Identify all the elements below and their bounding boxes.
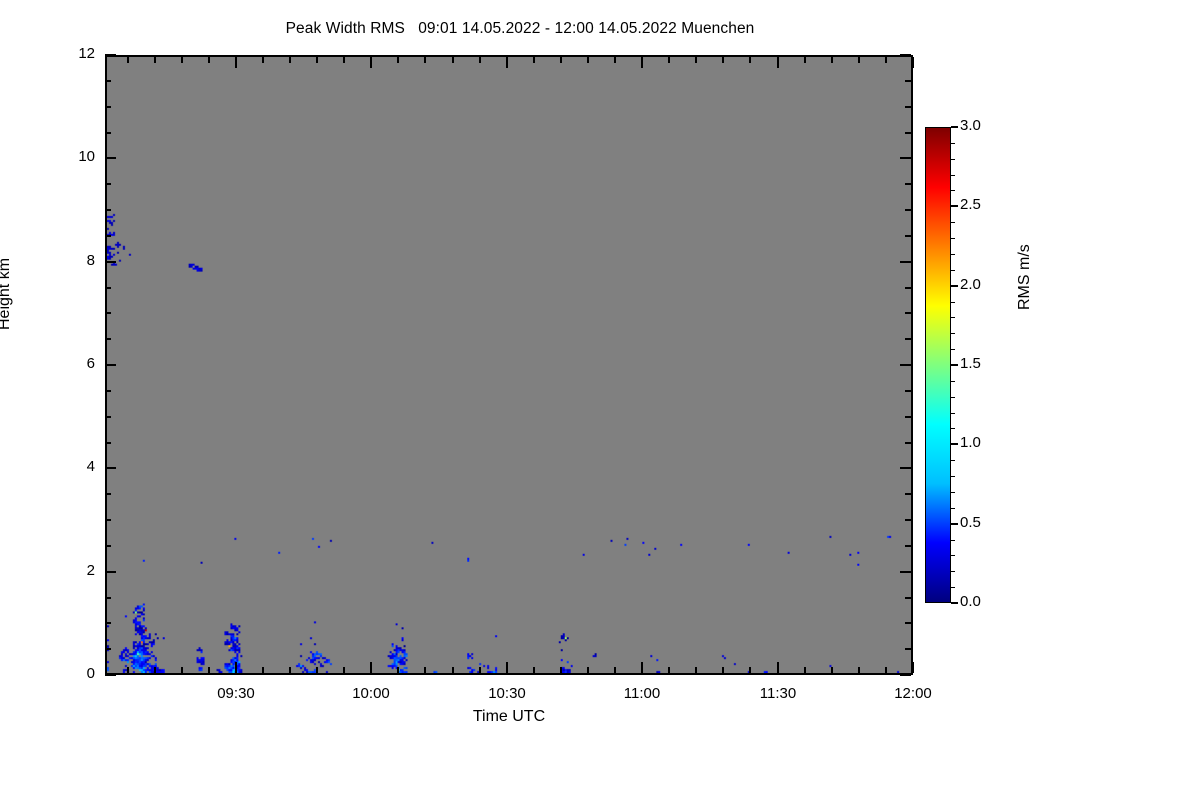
- y-tick-label: 0: [40, 665, 95, 682]
- y-tick-minor-right: [905, 132, 911, 134]
- x-tick-minor: [479, 667, 481, 673]
- x-tick-minor: [208, 667, 210, 673]
- x-tick-minor-top: [262, 57, 264, 63]
- y-tick-minor-right: [905, 442, 911, 444]
- x-tick-minor-top: [181, 57, 183, 63]
- x-tick-minor-top: [614, 57, 616, 63]
- colorbar-tick-minor: [951, 476, 955, 477]
- y-tick-minor-right: [905, 338, 911, 340]
- y-tick-label: 4: [40, 458, 95, 475]
- colorbar-tick-minor: [951, 175, 955, 176]
- x-tick-major: [235, 662, 237, 673]
- page-title: Peak Width RMS 09:01 14.05.2022 - 12:00 …: [0, 20, 1040, 38]
- x-tick-label: 09:30: [191, 685, 281, 702]
- colorbar-tick-minor: [951, 540, 955, 541]
- y-tick-minor: [105, 312, 111, 314]
- x-tick-minor: [587, 667, 589, 673]
- x-tick-minor-top: [343, 57, 345, 63]
- plot-area: [105, 55, 913, 675]
- colorbar-tick-minor: [951, 159, 955, 160]
- x-tick-minor-top: [533, 57, 535, 63]
- x-tick-minor: [885, 667, 887, 673]
- x-tick-minor: [452, 667, 454, 673]
- y-tick-minor: [105, 106, 111, 108]
- x-tick-major-top: [370, 57, 372, 68]
- colorbar-tick-label: 1.5: [960, 355, 981, 372]
- y-tick-major: [105, 261, 116, 263]
- colorbar-tick-minor: [951, 254, 955, 255]
- x-tick-major-top: [641, 57, 643, 68]
- colorbar-tick-minor: [951, 508, 955, 509]
- y-tick-minor: [105, 442, 111, 444]
- colorbar-tick-label: 0.5: [960, 514, 981, 531]
- x-tick-major: [370, 662, 372, 673]
- colorbar: [925, 127, 951, 603]
- y-tick-label: 2: [40, 562, 95, 579]
- x-tick-minor: [749, 667, 751, 673]
- y-tick-minor: [105, 338, 111, 340]
- x-tick-label: 10:30: [462, 685, 552, 702]
- y-tick-minor-right: [905, 416, 911, 418]
- colorbar-gradient: [925, 127, 951, 603]
- colorbar-tick-major: [951, 126, 958, 128]
- y-tick-minor-right: [905, 519, 911, 521]
- x-tick-minor: [289, 667, 291, 673]
- x-tick-minor: [127, 667, 129, 673]
- colorbar-tick-major: [951, 602, 958, 604]
- y-tick-major-right: [900, 157, 911, 159]
- x-tick-major-top: [777, 57, 779, 68]
- y-tick-minor: [105, 80, 111, 82]
- x-tick-major-top: [235, 57, 237, 68]
- x-tick-minor-top: [587, 57, 589, 63]
- x-tick-minor-top: [749, 57, 751, 63]
- x-tick-minor: [560, 667, 562, 673]
- x-tick-major: [506, 662, 508, 673]
- y-tick-major: [105, 674, 116, 676]
- x-tick-minor: [831, 667, 833, 673]
- x-tick-minor: [722, 667, 724, 673]
- x-tick-minor-top: [208, 57, 210, 63]
- x-tick-minor: [181, 667, 183, 673]
- y-tick-major-right: [900, 364, 911, 366]
- x-tick-minor: [668, 667, 670, 673]
- colorbar-tick-minor: [951, 381, 955, 382]
- x-tick-minor-top: [560, 57, 562, 63]
- y-tick-minor-right: [905, 493, 911, 495]
- colorbar-tick-minor: [951, 143, 955, 144]
- x-tick-minor: [533, 667, 535, 673]
- colorbar-tick-minor: [951, 270, 955, 271]
- x-tick-minor: [614, 667, 616, 673]
- y-tick-minor: [105, 416, 111, 418]
- x-tick-minor: [316, 667, 318, 673]
- colorbar-tick-minor: [951, 302, 955, 303]
- colorbar-tick-minor: [951, 587, 955, 588]
- colorbar-tick-minor: [951, 238, 955, 239]
- y-tick-minor-right: [905, 648, 911, 650]
- y-tick-major: [105, 54, 116, 56]
- y-tick-major-right: [900, 54, 911, 56]
- colorbar-tick-minor: [951, 460, 955, 461]
- y-tick-minor: [105, 648, 111, 650]
- x-tick-minor-top: [722, 57, 724, 63]
- colorbar-tick-label: 2.5: [960, 196, 981, 213]
- x-tick-major-top: [506, 57, 508, 68]
- y-tick-minor: [105, 493, 111, 495]
- y-tick-minor: [105, 183, 111, 185]
- y-tick-minor-right: [905, 183, 911, 185]
- y-tick-major-right: [900, 261, 911, 263]
- x-tick-minor-top: [127, 57, 129, 63]
- colorbar-tick-major: [951, 285, 958, 287]
- y-tick-major-right: [900, 674, 911, 676]
- x-tick-minor-top: [695, 57, 697, 63]
- colorbar-tick-minor: [951, 317, 955, 318]
- x-tick-minor-top: [831, 57, 833, 63]
- colorbar-tick-label: 1.0: [960, 434, 981, 451]
- y-tick-minor: [105, 287, 111, 289]
- y-tick-major: [105, 364, 116, 366]
- x-tick-minor-top: [424, 57, 426, 63]
- x-tick-minor: [424, 667, 426, 673]
- colorbar-tick-minor: [951, 492, 955, 493]
- colorbar-tick-minor: [951, 571, 955, 572]
- y-tick-minor: [105, 209, 111, 211]
- y-tick-minor: [105, 235, 111, 237]
- x-tick-label: 10:00: [326, 685, 416, 702]
- x-tick-minor-top: [858, 57, 860, 63]
- colorbar-tick-label: 2.0: [960, 276, 981, 293]
- y-tick-minor-right: [905, 287, 911, 289]
- x-tick-minor: [858, 667, 860, 673]
- y-tick-minor-right: [905, 235, 911, 237]
- y-tick-minor-right: [905, 209, 911, 211]
- x-tick-minor-top: [804, 57, 806, 63]
- x-tick-minor-top: [289, 57, 291, 63]
- y-tick-label: 10: [40, 148, 95, 165]
- x-tick-major: [777, 662, 779, 673]
- y-tick-minor-right: [905, 390, 911, 392]
- y-tick-minor-right: [905, 622, 911, 624]
- y-tick-minor: [105, 390, 111, 392]
- heatmap-canvas: [107, 57, 911, 673]
- y-tick-minor-right: [905, 597, 911, 599]
- colorbar-tick-minor: [951, 555, 955, 556]
- x-tick-minor-top: [397, 57, 399, 63]
- x-tick-minor: [695, 667, 697, 673]
- x-tick-major-top: [912, 57, 914, 68]
- x-tick-minor: [343, 667, 345, 673]
- y-tick-minor-right: [905, 312, 911, 314]
- y-tick-major-right: [900, 571, 911, 573]
- y-tick-major-right: [900, 467, 911, 469]
- colorbar-tick-major: [951, 205, 958, 207]
- y-tick-major: [105, 157, 116, 159]
- x-tick-label: 11:00: [597, 685, 687, 702]
- colorbar-tick-minor: [951, 413, 955, 414]
- y-tick-minor: [105, 597, 111, 599]
- x-tick-label: 11:30: [733, 685, 823, 702]
- colorbar-tick-minor: [951, 397, 955, 398]
- x-tick-minor: [804, 667, 806, 673]
- x-tick-minor-top: [452, 57, 454, 63]
- y-tick-label: 6: [40, 355, 95, 372]
- colorbar-title: RMS m/s: [1016, 244, 1034, 310]
- x-tick-label: 12:00: [868, 685, 958, 702]
- y-tick-minor: [105, 545, 111, 547]
- x-tick-minor-top: [154, 57, 156, 63]
- y-tick-minor: [105, 519, 111, 521]
- x-tick-minor: [397, 667, 399, 673]
- y-tick-minor: [105, 132, 111, 134]
- y-tick-label: 8: [40, 252, 95, 269]
- x-tick-minor-top: [885, 57, 887, 63]
- colorbar-tick-major: [951, 364, 958, 366]
- colorbar-tick-label: 3.0: [960, 117, 981, 134]
- y-tick-minor-right: [905, 106, 911, 108]
- colorbar-tick-minor: [951, 222, 955, 223]
- colorbar-tick-major: [951, 523, 958, 525]
- y-tick-minor-right: [905, 545, 911, 547]
- x-tick-major: [641, 662, 643, 673]
- y-tick-minor-right: [905, 80, 911, 82]
- x-tick-minor-top: [479, 57, 481, 63]
- colorbar-tick-major: [951, 443, 958, 445]
- x-axis-title: Time UTC: [105, 708, 913, 726]
- colorbar-tick-minor: [951, 349, 955, 350]
- x-tick-minor-top: [668, 57, 670, 63]
- colorbar-tick-minor: [951, 333, 955, 334]
- y-tick-label: 12: [40, 45, 95, 62]
- x-tick-major: [912, 662, 914, 673]
- colorbar-tick-minor: [951, 190, 955, 191]
- colorbar-tick-minor: [951, 428, 955, 429]
- y-tick-minor: [105, 622, 111, 624]
- colorbar-tick-label: 0.0: [960, 593, 981, 610]
- x-tick-minor-top: [316, 57, 318, 63]
- plot-root: Peak Width RMS 09:01 14.05.2022 - 12:00 …: [0, 0, 1200, 800]
- y-tick-major: [105, 571, 116, 573]
- y-axis-title: Height km: [0, 258, 14, 330]
- y-tick-major: [105, 467, 116, 469]
- x-tick-minor: [262, 667, 264, 673]
- x-tick-minor: [154, 667, 156, 673]
